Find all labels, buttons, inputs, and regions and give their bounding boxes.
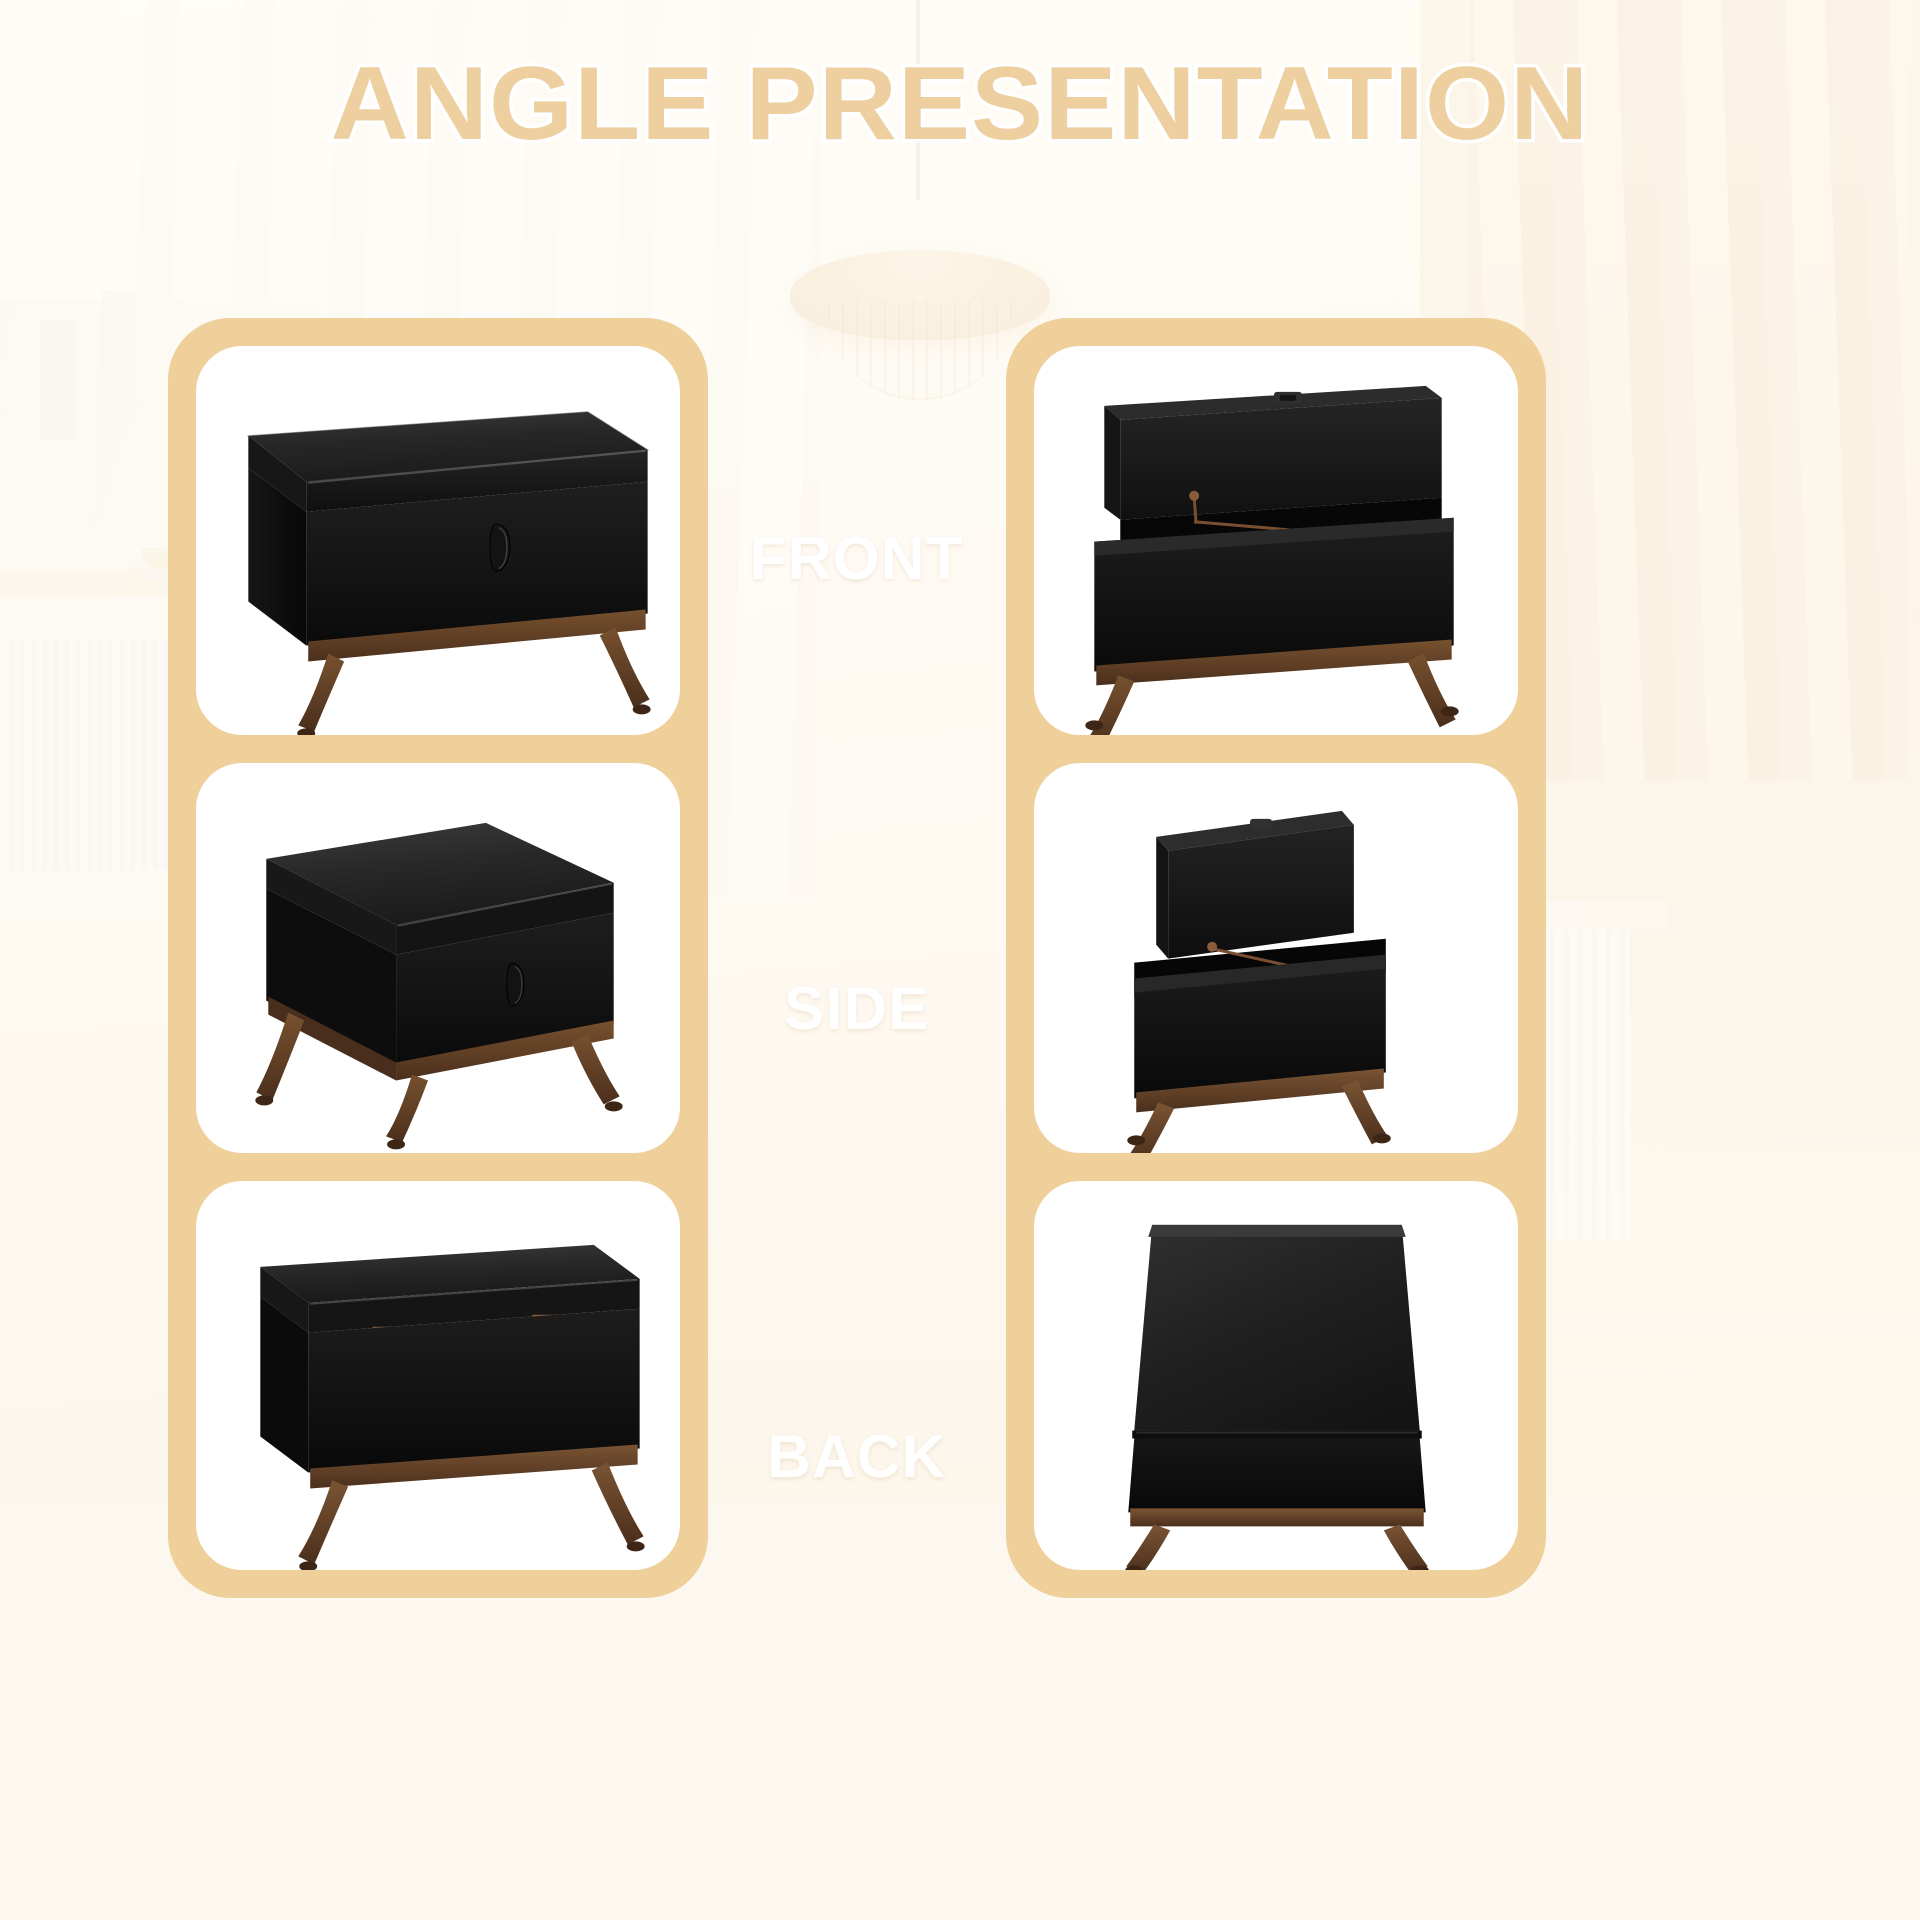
ottoman-front-open-illustration (1034, 346, 1518, 735)
ottoman-front-closed-illustration (196, 346, 680, 735)
card-back-closed[interactable] (196, 1181, 680, 1570)
page-title: ANGLE PRESENTATION (0, 52, 1920, 156)
panel-open-lid-views (1006, 318, 1546, 1598)
label-front: FRONT (708, 510, 1006, 606)
card-front-open[interactable] (1034, 346, 1518, 735)
card-side-open[interactable] (1034, 763, 1518, 1152)
panel-closed-lid-views (168, 318, 708, 1598)
ottoman-side-open-illustration (1034, 763, 1518, 1152)
ottoman-side-closed-illustration (196, 763, 680, 1152)
card-back-straight[interactable] (1034, 1181, 1518, 1570)
view-label-column: FRONT SIDE BACK (708, 318, 1006, 1598)
ottoman-back-closed-illustration (196, 1181, 680, 1570)
card-side-closed[interactable] (196, 763, 680, 1152)
ottoman-back-straight-illustration (1034, 1181, 1518, 1570)
card-front-closed[interactable] (196, 346, 680, 735)
label-back: BACK (708, 1408, 1006, 1504)
label-side: SIDE (708, 960, 1006, 1056)
